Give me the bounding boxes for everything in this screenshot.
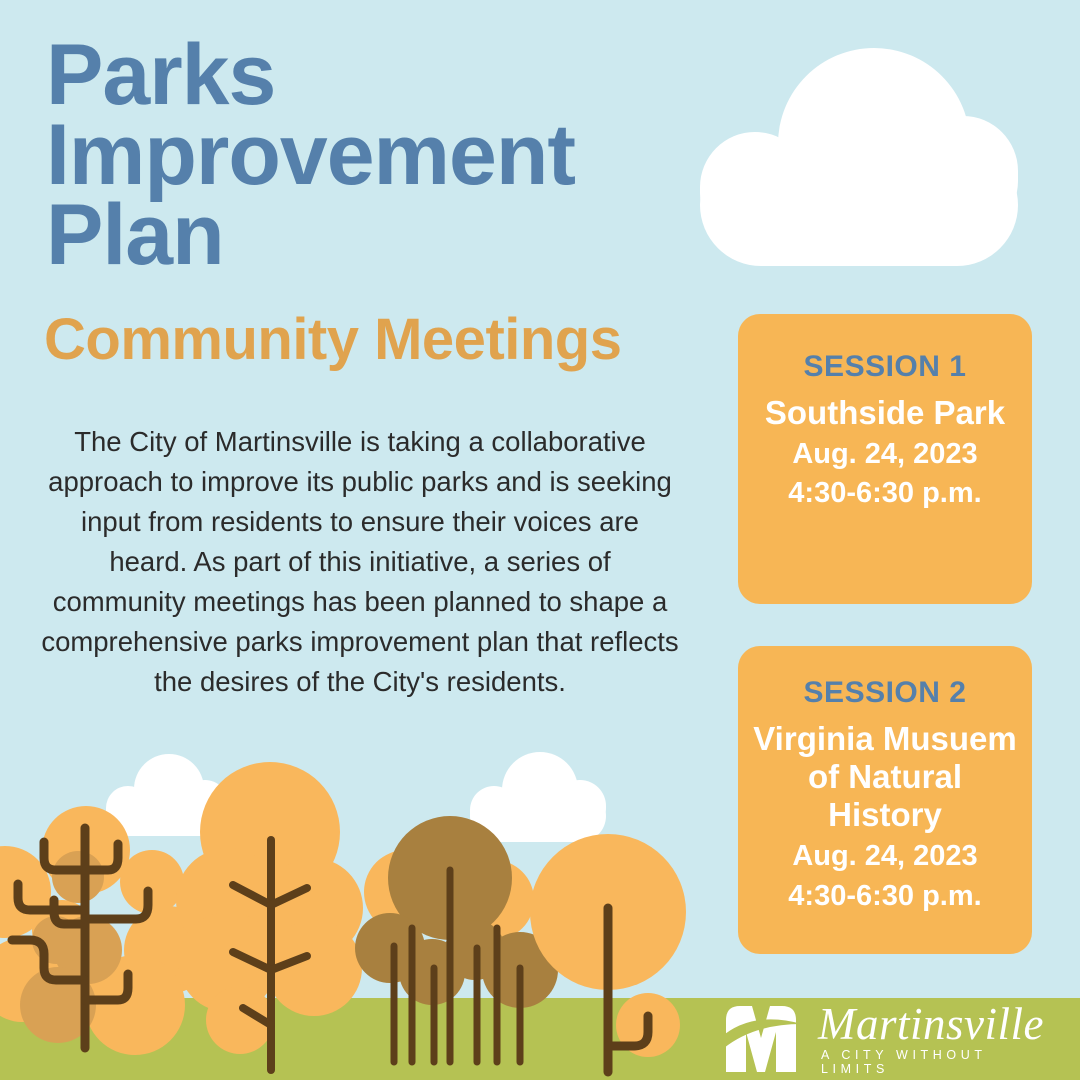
martinsville-m-mark-icon — [718, 1004, 804, 1074]
brown-circle-tree-cluster — [355, 816, 558, 1062]
session-1-date: Aug. 24, 2023 — [738, 436, 1032, 474]
logo-tagline: A CITY WITHOUT LIMITS — [818, 1048, 1062, 1076]
session-1-time: 4:30-6:30 p.m. — [738, 475, 1032, 513]
session-card-1: SESSION 1 Southside Park Aug. 24, 2023 4… — [738, 314, 1032, 604]
page-title: Parks Improvement Plan — [46, 36, 706, 276]
martinsville-logo: Martinsville A CITY WITHOUT LIMITS — [718, 1002, 1062, 1076]
session-2-date: Aug. 24, 2023 — [738, 838, 1032, 876]
subheading: Community Meetings — [44, 306, 714, 373]
session-2-label: SESSION 2 — [738, 674, 1032, 712]
session-1-label: SESSION 1 — [738, 348, 1032, 386]
logo-text-block: Martinsville A CITY WITHOUT LIMITS — [818, 1002, 1062, 1075]
title-line-2: Improvement — [46, 116, 706, 196]
poster-canvas: Parks Improvement Plan Community Meeting… — [0, 0, 1080, 1080]
body-paragraph: The City of Martinsville is taking a col… — [40, 422, 680, 703]
session-card-2: SESSION 2 Virginia Musuem of Natural His… — [738, 646, 1032, 954]
session-2-venue: Virginia Musuem of Natural History — [738, 720, 1032, 835]
cloud-base — [700, 144, 1018, 266]
lollipop-tree — [530, 834, 686, 1072]
cloud-large-icon — [700, 48, 1018, 266]
session-2-time: 4:30-6:30 p.m. — [738, 878, 1032, 916]
title-line-3: Plan — [46, 196, 706, 276]
session-1-venue: Southside Park — [738, 394, 1032, 432]
title-line-1: Parks — [46, 36, 706, 116]
logo-wordmark: Martinsville — [818, 1002, 1062, 1046]
